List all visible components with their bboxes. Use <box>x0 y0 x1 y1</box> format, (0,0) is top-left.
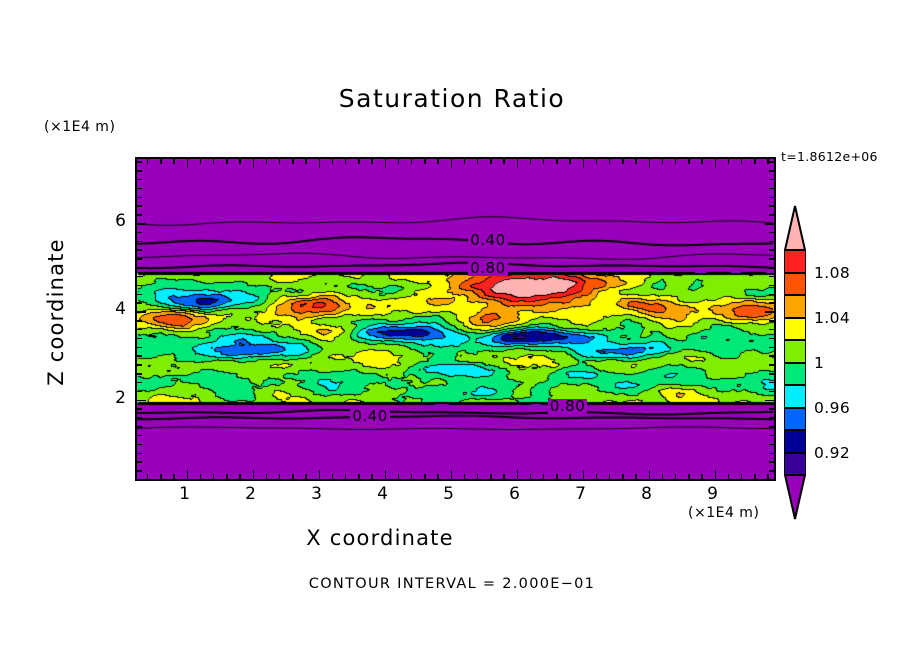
y-axis-minor-tick <box>769 258 774 260</box>
y-axis-minor-tick <box>137 276 142 278</box>
x-axis-minor-tick <box>477 159 479 164</box>
x-axis-tick-label: 9 <box>698 484 728 504</box>
x-axis-minor-tick <box>173 474 175 479</box>
x-axis-minor-tick <box>305 474 307 479</box>
y-axis-minor-tick <box>137 373 142 375</box>
x-axis-major-tick <box>517 470 519 479</box>
y-axis-minor-tick <box>137 338 142 340</box>
colorbar-band <box>784 453 806 476</box>
y-axis-minor-tick <box>137 382 142 384</box>
x-axis-major-tick <box>451 159 453 168</box>
y-axis-tick-label: 6 <box>96 211 126 231</box>
y-axis-minor-tick <box>769 179 774 181</box>
y-axis-minor-tick <box>769 188 774 190</box>
x-axis-minor-tick <box>701 474 703 479</box>
x-axis-minor-tick <box>411 474 413 479</box>
x-axis-minor-tick <box>358 474 360 479</box>
x-axis-minor-tick <box>358 159 360 164</box>
x-axis-tick-label: 4 <box>368 484 398 504</box>
x-axis-minor-tick <box>173 159 175 164</box>
x-axis-tick-label: 8 <box>632 484 662 504</box>
contour-label: 0.80 <box>468 261 507 276</box>
y-axis-minor-tick <box>769 249 774 251</box>
x-axis-minor-tick <box>160 474 162 479</box>
colorbar-tick-label: 0.96 <box>814 399 850 417</box>
x-axis-minor-tick <box>622 159 624 164</box>
x-axis-minor-tick <box>701 159 703 164</box>
y-axis-minor-tick <box>137 364 142 366</box>
y-axis-minor-tick <box>769 453 774 455</box>
y-axis-minor-tick <box>769 347 774 349</box>
x-axis-minor-tick <box>688 474 690 479</box>
x-axis-minor-tick <box>662 159 664 164</box>
y-axis-minor-tick <box>137 302 142 304</box>
x-axis-minor-tick <box>569 474 571 479</box>
x-axis-minor-tick <box>147 474 149 479</box>
contour-label: 0.40 <box>350 409 389 424</box>
y-axis-minor-tick <box>769 426 774 428</box>
y-axis-minor-tick <box>137 214 142 216</box>
y-axis-major-tick <box>765 311 774 313</box>
y-axis-minor-tick <box>137 426 142 428</box>
x-axis-major-tick <box>649 159 651 168</box>
colorbar-band <box>784 430 806 453</box>
x-axis-minor-tick <box>490 159 492 164</box>
colorbar-band <box>784 318 806 341</box>
y-axis-minor-tick <box>769 294 774 296</box>
x-axis-units-label: (×1E4 m) <box>688 505 759 521</box>
x-axis-tick-label: 7 <box>566 484 596 504</box>
x-axis-minor-tick <box>279 474 281 479</box>
x-axis-minor-tick <box>213 474 215 479</box>
y-axis-minor-tick <box>769 285 774 287</box>
y-axis-minor-tick <box>137 197 142 199</box>
y-axis-minor-tick <box>137 258 142 260</box>
y-axis-minor-tick <box>769 408 774 410</box>
y-axis-units-label: (×1E4 m) <box>44 119 115 135</box>
x-axis-minor-tick <box>200 474 202 479</box>
x-axis-minor-tick <box>635 474 637 479</box>
y-axis-minor-tick <box>769 197 774 199</box>
x-axis-minor-tick <box>464 474 466 479</box>
contour-interval-label: CONTOUR INTERVAL = 2.000E−01 <box>0 576 904 592</box>
y-axis-minor-tick <box>137 444 142 446</box>
y-axis-major-tick <box>137 400 146 402</box>
y-axis-minor-tick <box>769 329 774 331</box>
x-axis-minor-tick <box>754 159 756 164</box>
y-axis-minor-tick <box>769 241 774 243</box>
x-axis-minor-tick <box>622 474 624 479</box>
x-axis-minor-tick <box>226 474 228 479</box>
y-axis-minor-tick <box>137 170 142 172</box>
x-axis-minor-tick <box>292 474 294 479</box>
colorbar-over-arrow <box>784 205 806 250</box>
x-axis-minor-tick <box>213 159 215 164</box>
y-axis-minor-tick <box>769 470 774 472</box>
y-axis-minor-tick <box>769 391 774 393</box>
x-axis-minor-tick <box>503 159 505 164</box>
y-axis-tick-label: 2 <box>96 388 126 408</box>
x-axis-major-tick <box>583 470 585 479</box>
x-axis-major-tick <box>583 159 585 168</box>
x-axis-major-tick <box>253 159 255 168</box>
y-axis-minor-tick <box>137 232 142 234</box>
contour-lines-canvas <box>137 159 774 479</box>
x-axis-major-tick <box>715 159 717 168</box>
x-axis-minor-tick <box>371 159 373 164</box>
y-axis-minor-tick <box>769 205 774 207</box>
y-axis-minor-tick <box>137 461 142 463</box>
x-axis-minor-tick <box>160 159 162 164</box>
x-axis-minor-tick <box>767 474 769 479</box>
contour-label: 0.80 <box>548 399 587 414</box>
colorbar-band <box>784 408 806 431</box>
y-axis-minor-tick <box>137 161 142 163</box>
timestamp-label: t=1.8612e+06 <box>781 149 878 164</box>
x-axis-major-tick <box>253 470 255 479</box>
x-axis-minor-tick <box>477 474 479 479</box>
x-axis-minor-tick <box>292 159 294 164</box>
colorbar-tick-label: 1.04 <box>814 309 850 327</box>
y-axis-major-tick <box>765 400 774 402</box>
y-axis-minor-tick <box>769 320 774 322</box>
x-axis-major-tick <box>385 470 387 479</box>
x-axis-minor-tick <box>266 159 268 164</box>
x-axis-minor-tick <box>200 159 202 164</box>
x-axis-tick-label: 3 <box>302 484 332 504</box>
x-axis-tick-label: 1 <box>170 484 200 504</box>
y-axis-minor-tick <box>769 364 774 366</box>
y-axis-minor-tick <box>137 267 142 269</box>
x-axis-minor-tick <box>239 474 241 479</box>
y-axis-major-tick <box>765 223 774 225</box>
x-axis-minor-tick <box>411 159 413 164</box>
x-axis-major-tick <box>319 159 321 168</box>
y-axis-minor-tick <box>137 435 142 437</box>
contour-plot-area: 0.400.800.400.80 <box>135 157 776 481</box>
y-axis-minor-tick <box>769 276 774 278</box>
y-axis-minor-tick <box>769 302 774 304</box>
colorbar-under-arrow <box>784 475 806 520</box>
x-axis-minor-tick <box>503 474 505 479</box>
x-axis-minor-tick <box>424 159 426 164</box>
y-axis-minor-tick <box>769 355 774 357</box>
x-axis-minor-tick <box>609 474 611 479</box>
y-axis-minor-tick <box>769 417 774 419</box>
y-axis-minor-tick <box>137 417 142 419</box>
x-axis-major-tick <box>385 159 387 168</box>
y-axis-title: Z coordinate <box>44 232 68 392</box>
x-axis-minor-tick <box>345 474 347 479</box>
x-axis-minor-tick <box>437 159 439 164</box>
x-axis-minor-tick <box>556 159 558 164</box>
x-axis-tick-label: 2 <box>236 484 266 504</box>
x-axis-minor-tick <box>305 159 307 164</box>
x-axis-minor-tick <box>754 474 756 479</box>
x-axis-major-tick <box>451 470 453 479</box>
x-axis-major-tick <box>649 470 651 479</box>
x-axis-minor-tick <box>345 159 347 164</box>
x-axis-major-tick <box>319 470 321 479</box>
y-axis-minor-tick <box>769 267 774 269</box>
x-axis-minor-tick <box>530 474 532 479</box>
x-axis-minor-tick <box>675 474 677 479</box>
colorbar-band <box>784 250 806 273</box>
colorbar-tick-label: 1 <box>814 354 824 372</box>
y-axis-minor-tick <box>769 373 774 375</box>
colorbar-band <box>784 340 806 363</box>
x-axis-minor-tick <box>147 159 149 164</box>
colorbar-band <box>784 385 806 408</box>
y-axis-minor-tick <box>769 435 774 437</box>
y-axis-minor-tick <box>137 355 142 357</box>
colorbar-band <box>784 273 806 296</box>
x-axis-minor-tick <box>226 159 228 164</box>
x-axis-minor-tick <box>239 159 241 164</box>
x-axis-minor-tick <box>609 159 611 164</box>
colorbar-tick-label: 0.92 <box>814 444 850 462</box>
y-axis-tick-label: 4 <box>96 299 126 319</box>
y-axis-major-tick <box>137 223 146 225</box>
x-axis-minor-tick <box>332 159 334 164</box>
x-axis-minor-tick <box>371 474 373 479</box>
colorbar-tick-label: 1.08 <box>814 264 850 282</box>
colorbar: 1.081.0410.960.92 <box>784 205 806 520</box>
x-axis-minor-tick <box>424 474 426 479</box>
x-axis-major-tick <box>187 470 189 479</box>
y-axis-minor-tick <box>769 232 774 234</box>
x-axis-minor-tick <box>728 474 730 479</box>
x-axis-minor-tick <box>464 159 466 164</box>
x-axis-minor-tick <box>569 159 571 164</box>
x-axis-minor-tick <box>596 159 598 164</box>
y-axis-minor-tick <box>137 205 142 207</box>
x-axis-major-tick <box>187 159 189 168</box>
x-axis-minor-tick <box>728 159 730 164</box>
y-axis-minor-tick <box>137 391 142 393</box>
y-axis-minor-tick <box>769 214 774 216</box>
x-axis-minor-tick <box>543 474 545 479</box>
y-axis-minor-tick <box>137 188 142 190</box>
y-axis-minor-tick <box>769 382 774 384</box>
x-axis-major-tick <box>517 159 519 168</box>
y-axis-minor-tick <box>137 408 142 410</box>
x-axis-title: X coordinate <box>0 526 760 550</box>
x-axis-minor-tick <box>266 474 268 479</box>
y-axis-minor-tick <box>137 241 142 243</box>
x-axis-major-tick <box>715 470 717 479</box>
x-axis-minor-tick <box>332 474 334 479</box>
x-axis-minor-tick <box>688 159 690 164</box>
y-axis-minor-tick <box>137 347 142 349</box>
x-axis-minor-tick <box>741 474 743 479</box>
y-axis-minor-tick <box>137 285 142 287</box>
x-axis-minor-tick <box>675 159 677 164</box>
contour-label: 0.40 <box>468 233 507 248</box>
colorbar-band <box>784 295 806 318</box>
y-axis-minor-tick <box>137 249 142 251</box>
x-axis-minor-tick <box>556 474 558 479</box>
y-axis-major-tick <box>137 311 146 313</box>
x-axis-minor-tick <box>635 159 637 164</box>
x-axis-minor-tick <box>398 159 400 164</box>
x-axis-minor-tick <box>662 474 664 479</box>
x-axis-minor-tick <box>490 474 492 479</box>
x-axis-minor-tick <box>437 474 439 479</box>
y-axis-minor-tick <box>137 179 142 181</box>
y-axis-minor-tick <box>769 161 774 163</box>
x-axis-minor-tick <box>596 474 598 479</box>
colorbar-band <box>784 363 806 386</box>
y-axis-minor-tick <box>137 294 142 296</box>
x-axis-minor-tick <box>398 474 400 479</box>
x-axis-minor-tick <box>530 159 532 164</box>
y-axis-minor-tick <box>769 461 774 463</box>
x-axis-minor-tick <box>279 159 281 164</box>
y-axis-minor-tick <box>137 320 142 322</box>
y-axis-minor-tick <box>137 470 142 472</box>
x-axis-minor-tick <box>741 159 743 164</box>
x-axis-minor-tick <box>543 159 545 164</box>
y-axis-minor-tick <box>769 170 774 172</box>
y-axis-minor-tick <box>137 453 142 455</box>
y-axis-minor-tick <box>137 329 142 331</box>
x-axis-tick-label: 6 <box>500 484 530 504</box>
y-axis-minor-tick <box>769 444 774 446</box>
y-axis-minor-tick <box>769 338 774 340</box>
x-axis-tick-label: 5 <box>434 484 464 504</box>
page-title: Saturation Ratio <box>0 84 904 113</box>
